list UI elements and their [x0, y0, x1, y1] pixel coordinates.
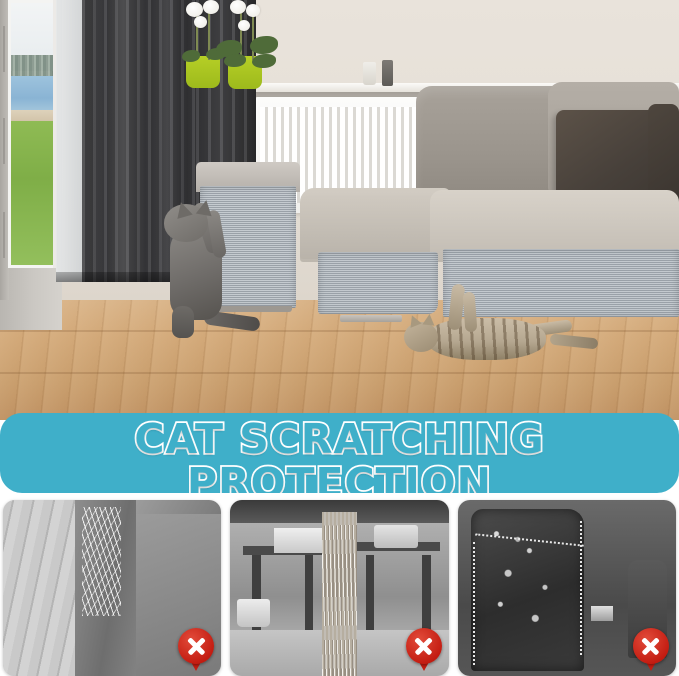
lake	[11, 76, 53, 113]
x-mark-icon	[178, 628, 214, 664]
sofa-foot	[340, 315, 402, 322]
tabby-cat	[398, 300, 598, 368]
x-mark-icon	[406, 628, 442, 664]
thumbnail-scratched-pillar	[230, 500, 448, 676]
damage-examples-row	[0, 500, 679, 676]
promo-banner: CAT SCRATCHING PROTECTION Provide Compre…	[0, 413, 679, 493]
floor-seam	[0, 372, 679, 374]
thumbnail-damaged-leather-chair	[458, 500, 676, 676]
gray-cat	[152, 196, 262, 344]
hero-photo	[0, 0, 679, 420]
window	[8, 0, 56, 268]
product-image: CAT SCRATCHING PROTECTION Provide Compre…	[0, 0, 679, 676]
gray-vase	[382, 60, 393, 86]
white-vase	[363, 62, 376, 85]
banner-title: CAT SCRATCHING PROTECTION	[0, 417, 679, 493]
grass-lawn	[11, 121, 53, 265]
x-mark-icon	[633, 628, 669, 664]
thumbnail-scratched-sofa	[3, 500, 221, 676]
